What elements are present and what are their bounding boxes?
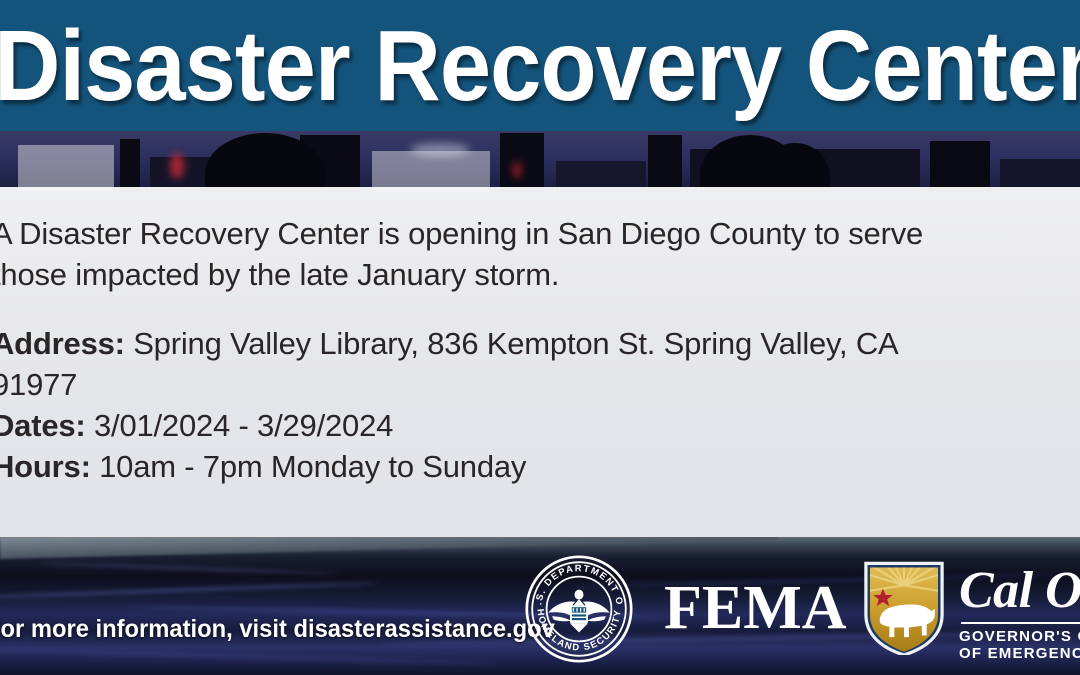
address-label: Address: bbox=[0, 326, 125, 361]
building-silhouette bbox=[372, 151, 490, 191]
disaster-recovery-center-poster: Disaster Recovery Center A Disaster Reco… bbox=[0, 0, 1080, 675]
photo-color-accent bbox=[410, 143, 470, 157]
photo-skyline-band bbox=[0, 131, 1080, 191]
hours-line: Hours: 10am - 7pm Monday to Sunday bbox=[0, 446, 1066, 487]
shield-icon bbox=[863, 561, 945, 655]
fema-wordmark: FEMA bbox=[664, 577, 847, 639]
pole-silhouette bbox=[500, 133, 544, 191]
water-ripple bbox=[0, 582, 380, 600]
pole-silhouette bbox=[648, 135, 682, 191]
photo-color-accent bbox=[512, 161, 522, 179]
building-silhouette bbox=[18, 145, 114, 191]
cal-oes-wordmark: Cal OES GOVERNOR'S OFFICE OF EMERGENCY S… bbox=[959, 563, 1080, 662]
photo-color-accent bbox=[170, 153, 184, 179]
intro-paragraph: A Disaster Recovery Center is opening in… bbox=[0, 213, 1066, 295]
pole-silhouette bbox=[120, 139, 140, 191]
footer-info-text: For more information, visit disasterassi… bbox=[0, 614, 555, 644]
cal-oes-title: Cal OES bbox=[959, 563, 1080, 619]
content-panel: A Disaster Recovery Center is opening in… bbox=[0, 187, 1080, 537]
dates-value: 3/01/2024 - 3/29/2024 bbox=[94, 408, 393, 443]
pole-silhouette bbox=[930, 141, 990, 191]
intro-line-1: A Disaster Recovery Center is opening in… bbox=[0, 216, 923, 251]
header-band: Disaster Recovery Center bbox=[0, 0, 1080, 131]
address-value-2: 91977 bbox=[0, 364, 1066, 405]
address-line: Address: Spring Valley Library, 836 Kemp… bbox=[0, 323, 1066, 405]
page-title: Disaster Recovery Center bbox=[0, 14, 1080, 118]
cal-oes-subtitle-line-2: OF EMERGENCY SERVICES bbox=[959, 645, 1080, 662]
intro-line-2: those impacted by the late January storm… bbox=[0, 254, 1066, 295]
water-ripple bbox=[40, 562, 340, 575]
details-block: Address: Spring Valley Library, 836 Kemp… bbox=[0, 323, 1066, 487]
dates-label: Dates: bbox=[0, 408, 86, 443]
address-value-1: Spring Valley Library, 836 Kempton St. S… bbox=[133, 326, 898, 361]
dhs-seal-icon: U.S. DEPARTMENT OF HOMELAND SECURITY bbox=[525, 555, 633, 663]
dates-line: Dates: 3/01/2024 - 3/29/2024 bbox=[0, 405, 1066, 446]
cal-oes-divider bbox=[961, 622, 1080, 624]
hours-value: 10am - 7pm Monday to Sunday bbox=[99, 449, 526, 484]
water-ripple bbox=[0, 648, 500, 666]
hours-label: Hours: bbox=[0, 449, 91, 484]
cal-oes-subtitle-line-1: GOVERNOR'S OFFICE bbox=[959, 628, 1080, 645]
agency-logo-row: U.S. DEPARTMENT OF HOMELAND SECURITY bbox=[525, 551, 1080, 663]
